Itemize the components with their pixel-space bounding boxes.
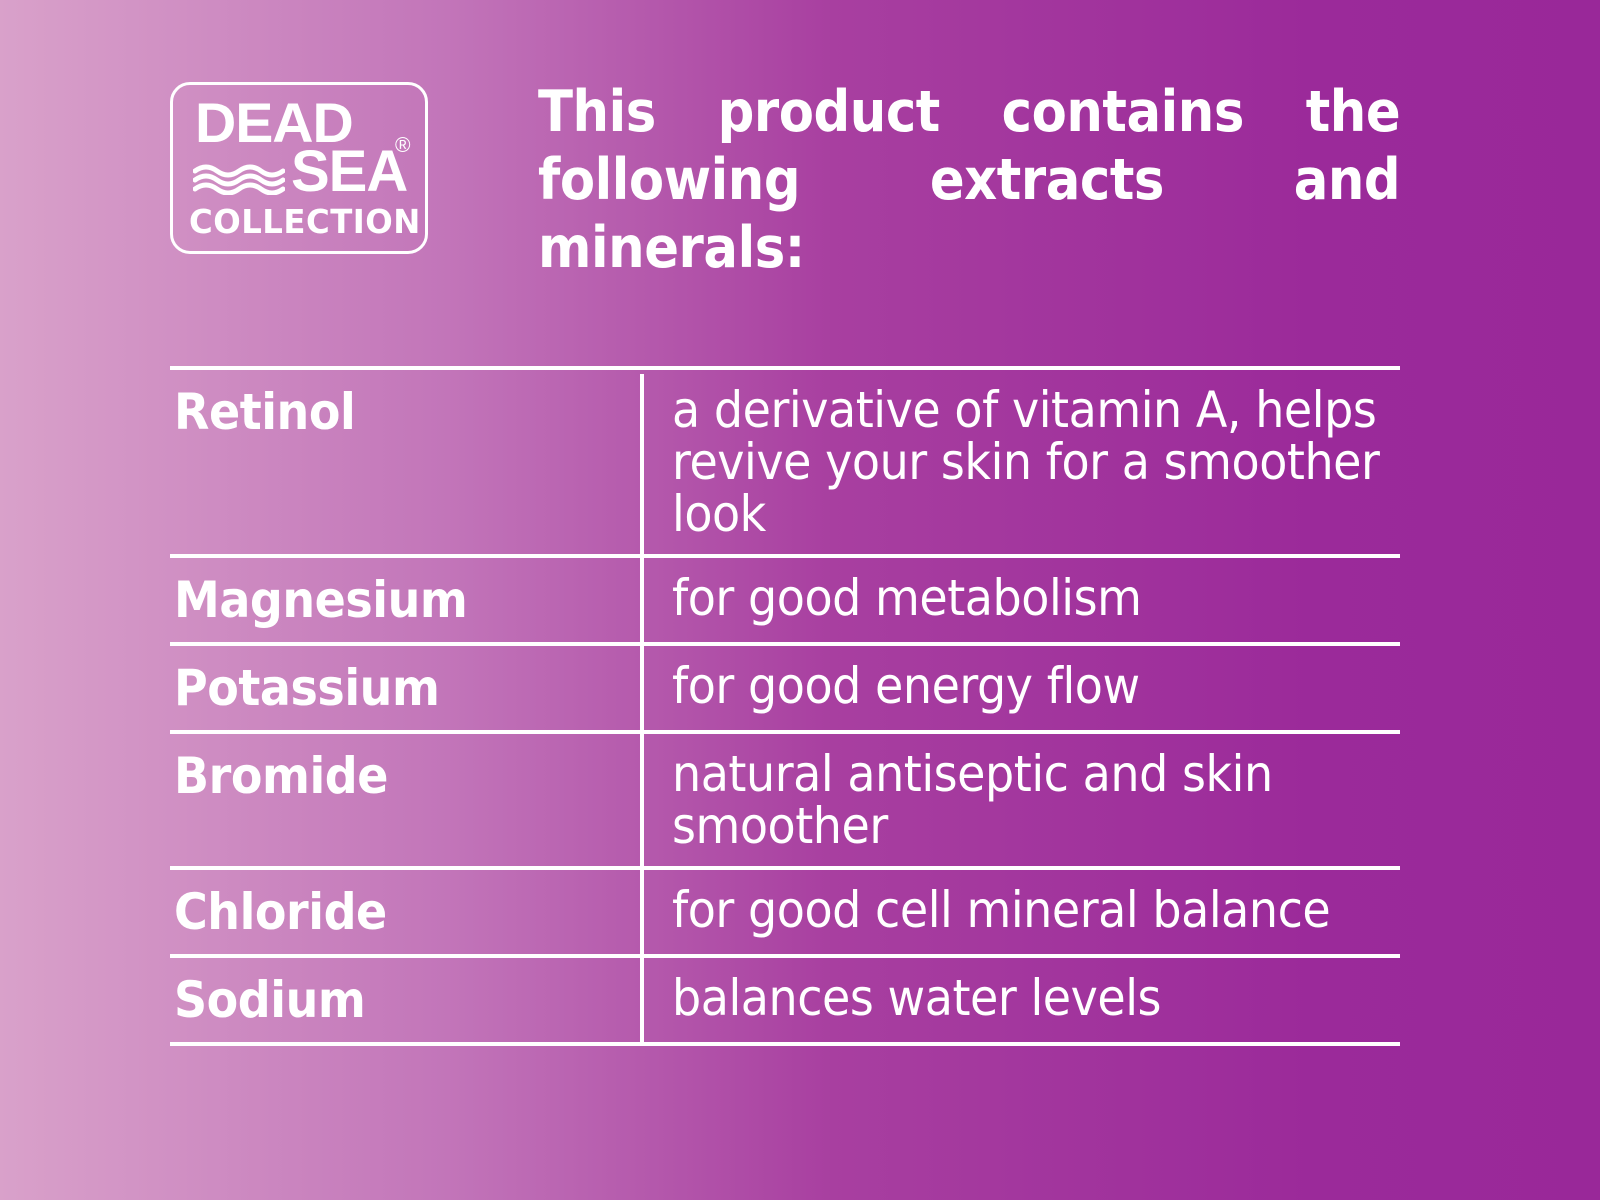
ingredient-name-text: Bromide <box>174 748 388 804</box>
ingredient-description-text: for good metabolism <box>672 572 1395 624</box>
ingredient-description: a derivative of vitamin A, helps revive … <box>640 370 1400 554</box>
wave-lines-icon <box>193 163 285 195</box>
ingredient-name: Sodium <box>170 958 640 1042</box>
table-column-divider <box>640 374 644 1042</box>
ingredient-description-text: natural antiseptic and skin smoother <box>672 748 1395 852</box>
logo-word-sea: SEA <box>291 143 407 201</box>
ingredient-name-text: Magnesium <box>174 572 467 628</box>
logo-word-collection: COLLECTION <box>189 205 421 238</box>
table-body: Retinol a derivative of vitamin A, helps… <box>170 370 1400 1042</box>
ingredient-description-text: for good energy flow <box>672 660 1395 712</box>
table-rule-bottom <box>170 1042 1400 1046</box>
dead-sea-collection-logo: DEAD ® SEA COLLECTION <box>170 82 428 254</box>
ingredients-table: Retinol a derivative of vitamin A, helps… <box>170 366 1400 1046</box>
ingredient-description: for good cell mineral balance <box>640 870 1400 950</box>
logo-inner: DEAD ® SEA COLLECTION <box>173 85 425 251</box>
ingredient-name: Bromide <box>170 734 640 818</box>
ingredient-name-text: Potassium <box>174 660 439 716</box>
ingredient-description: for good metabolism <box>640 558 1400 638</box>
table-row: Bromide natural antiseptic and skin smoo… <box>170 734 1400 866</box>
table-row: Potassium for good energy flow <box>170 646 1400 730</box>
ingredient-name-text: Sodium <box>174 972 365 1028</box>
table-row: Magnesium for good metabolism <box>170 558 1400 642</box>
ingredient-info-panel: DEAD ® SEA COLLECTION This product conta… <box>0 0 1600 1200</box>
ingredient-name: Chloride <box>170 870 640 954</box>
table-row: Sodium balances water levels <box>170 958 1400 1042</box>
ingredient-name-text: Retinol <box>174 384 355 440</box>
ingredient-description-text: for good cell mineral balance <box>672 884 1395 936</box>
ingredient-name: Retinol <box>170 370 640 454</box>
ingredient-description: balances water levels <box>640 958 1400 1038</box>
ingredient-name: Magnesium <box>170 558 640 642</box>
ingredient-description-text: balances water levels <box>672 972 1395 1024</box>
page-title: This product contains the following extr… <box>538 78 1400 282</box>
ingredient-name-text: Chloride <box>174 884 387 940</box>
ingredient-name: Potassium <box>170 646 640 730</box>
panel-header: DEAD ® SEA COLLECTION This product conta… <box>170 78 1400 298</box>
ingredient-description: for good energy flow <box>640 646 1400 726</box>
ingredient-description: natural antiseptic and skin smoother <box>640 734 1400 866</box>
table-row: Chloride for good cell mineral balance <box>170 870 1400 954</box>
ingredient-description-text: a derivative of vitamin A, helps revive … <box>672 384 1395 540</box>
table-row: Retinol a derivative of vitamin A, helps… <box>170 370 1400 554</box>
